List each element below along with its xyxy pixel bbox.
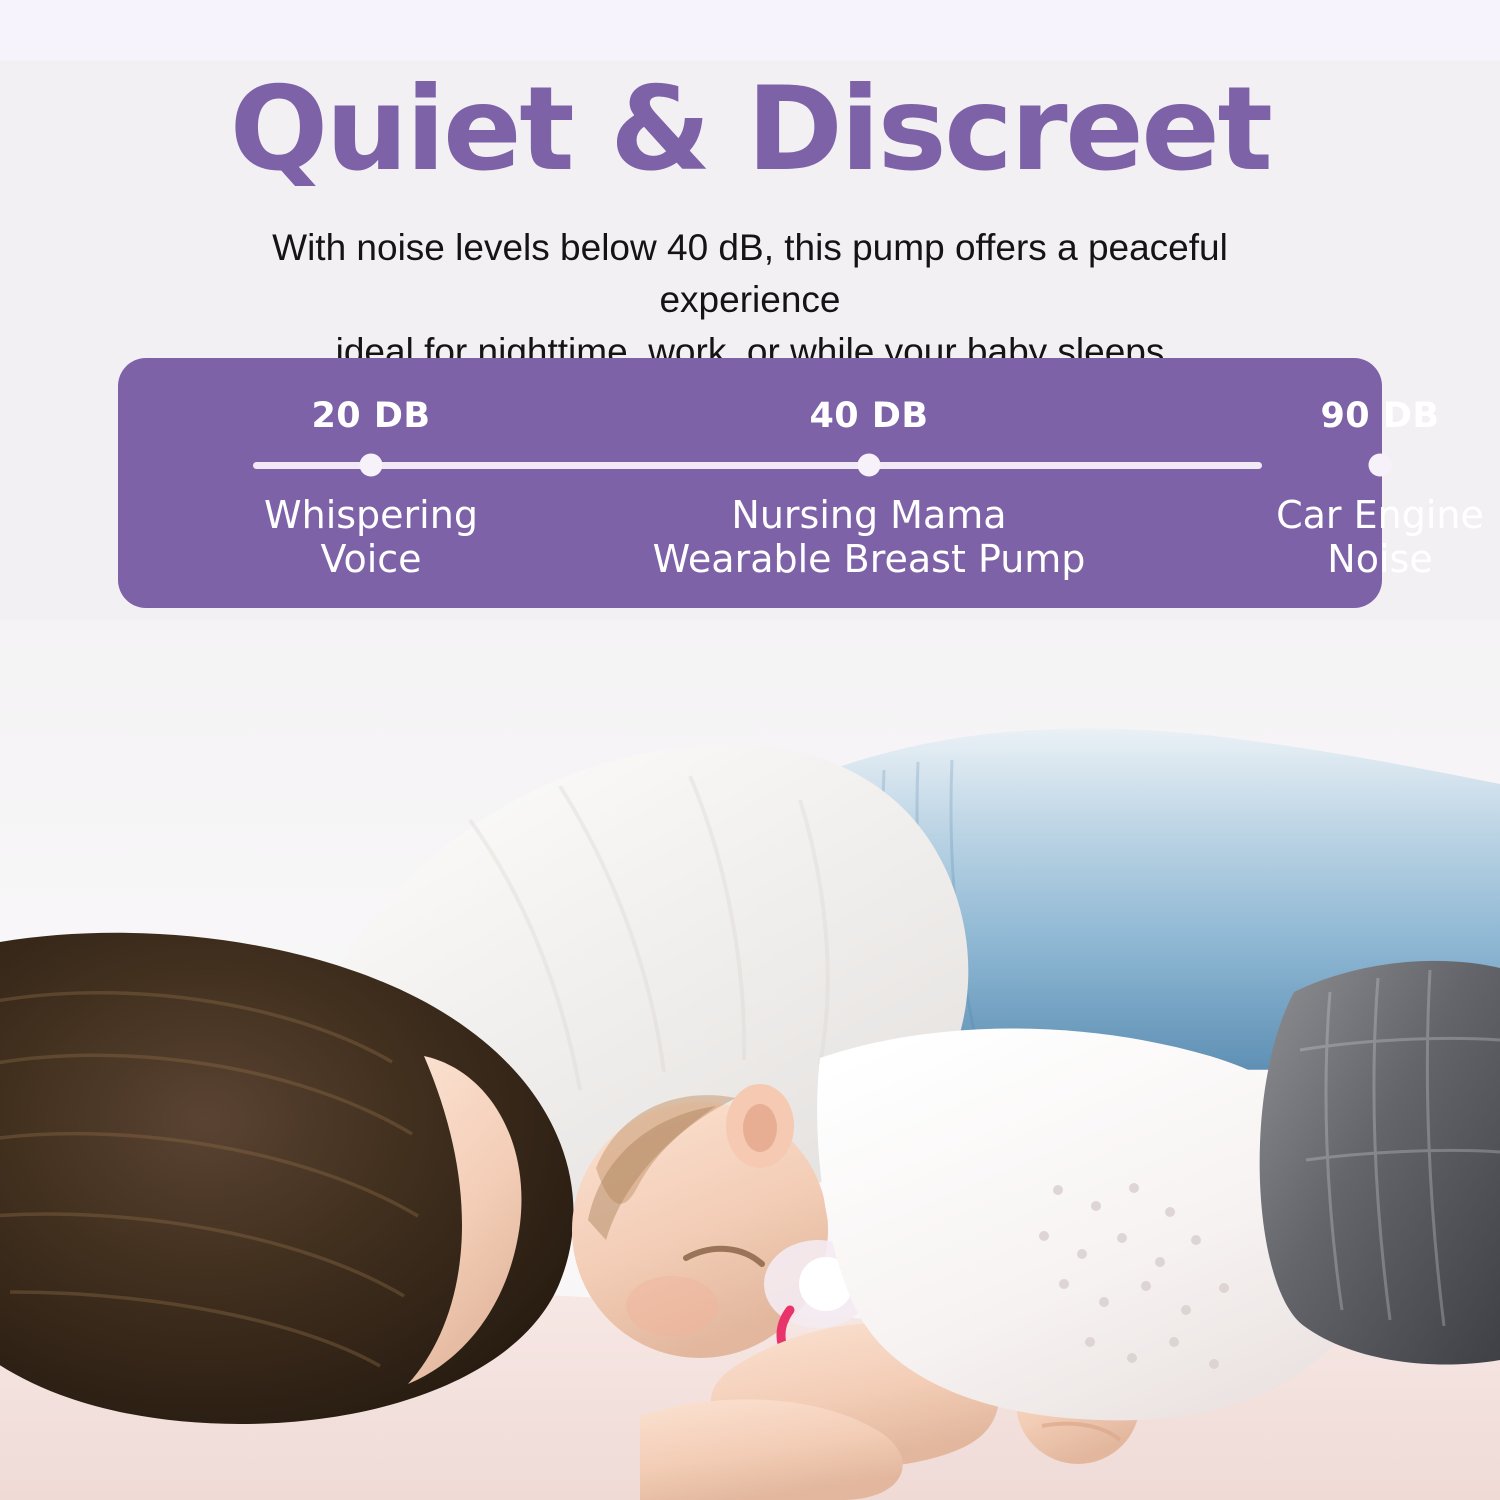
- baby-ear-inner: [743, 1104, 777, 1152]
- scale-caption-20-line1: Whispering: [264, 493, 478, 537]
- subtitle-line-1: With noise levels below 40 dB, this pump…: [200, 222, 1300, 326]
- scale-caption-90-line1: Car Engine: [1276, 493, 1484, 537]
- decibel-scale-card: 20 DB Whispering Voice 40 DB Nursing Mam…: [118, 358, 1382, 608]
- scale-dot-icon-20: [360, 454, 383, 477]
- infographic-canvas: Quiet & Discreet With noise levels below…: [0, 0, 1500, 1500]
- scale-dot-icon-90: [1369, 454, 1392, 477]
- photo-illustration: [0, 620, 1500, 1500]
- scale-db-label-40: 40 DB: [809, 396, 928, 436]
- scale-caption-40-line2: Wearable Breast Pump: [653, 537, 1086, 581]
- grey-denim: [1260, 961, 1500, 1365]
- scale-dot-icon-40: [858, 454, 881, 477]
- scale-caption-40-line1: Nursing Mama: [653, 493, 1086, 537]
- scale-caption-20-line2: Voice: [264, 537, 478, 581]
- photo-top-blend: [0, 620, 1500, 690]
- page-title: Quiet & Discreet: [0, 70, 1500, 190]
- scale-caption-20: Whispering Voice: [264, 493, 478, 581]
- baby-cheek: [626, 1276, 718, 1336]
- lifestyle-photo: [0, 620, 1500, 1500]
- scale-track-line: [253, 462, 1262, 469]
- scale-db-label-90: 90 DB: [1320, 396, 1439, 436]
- scale-caption-40: Nursing Mama Wearable Breast Pump: [653, 493, 1086, 581]
- scale-db-label-20: 20 DB: [311, 396, 430, 436]
- scale-inner: 20 DB Whispering Voice 40 DB Nursing Mam…: [118, 358, 1382, 608]
- scale-caption-90-line2: Noise: [1276, 537, 1484, 581]
- scale-caption-90: Car Engine Noise: [1276, 493, 1484, 581]
- page-subtitle: With noise levels below 40 dB, this pump…: [200, 222, 1300, 378]
